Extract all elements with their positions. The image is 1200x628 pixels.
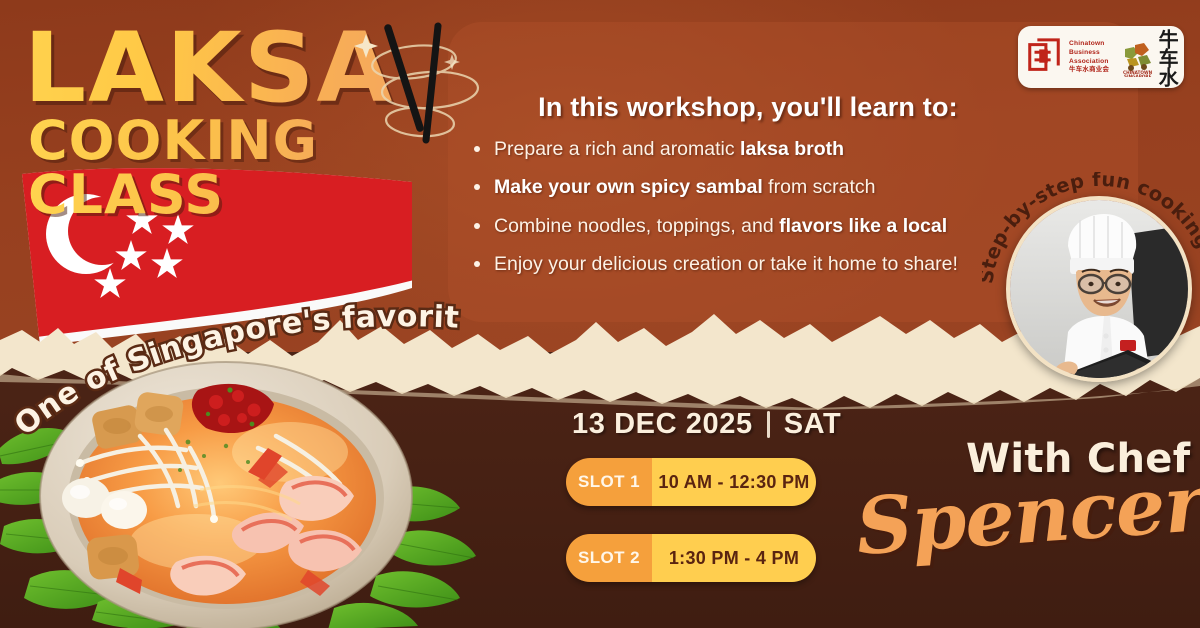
- cba-line-3: Association: [1069, 57, 1109, 66]
- slot-2-pill[interactable]: SLOT 2 1:30 PM - 4 PM: [566, 534, 816, 582]
- bullet-text-post: from scratch: [763, 176, 876, 198]
- chef-name-block: With Chef Spencer: [862, 432, 1192, 592]
- cba-line-1: Chinatown: [1069, 39, 1109, 48]
- bullet-text-pre: Combine noodles, toppings, and: [494, 215, 779, 237]
- list-item: Combine noodles, toppings, and flavors l…: [468, 214, 1028, 239]
- workshop-bullet-list: Prepare a rich and aromatic laksa broth …: [468, 137, 1028, 277]
- logo-divider: [1115, 40, 1116, 74]
- list-item: Prepare a rich and aromatic laksa broth: [468, 137, 1028, 162]
- chinatown-chinese-text: 牛车水: [1158, 29, 1175, 86]
- arc-left-label: One of Singapore's favorite dishes!: [10, 300, 460, 443]
- svg-text:SINGAPORE: SINGAPORE: [1124, 74, 1152, 77]
- cba-chinese-text: 牛车水商业会: [1069, 66, 1109, 75]
- event-date: 13 DEC 2025: [572, 408, 753, 441]
- cba-line-2: Business: [1069, 48, 1109, 57]
- slot-2-time: 1:30 PM - 4 PM: [652, 534, 816, 582]
- cba-seal-icon: [1025, 37, 1063, 77]
- slot-1-pill[interactable]: SLOT 1 10 AM - 12:30 PM: [566, 458, 816, 506]
- event-day: SAT: [784, 408, 842, 441]
- workshop-section: In this workshop, you'll learn to: Prepa…: [468, 92, 1028, 290]
- event-date-row: 13 DEC 2025 SAT: [572, 408, 841, 441]
- slot-1-time: 10 AM - 12:30 PM: [652, 458, 816, 506]
- chef-name-spencer: Spencer: [853, 458, 1200, 573]
- chinatown-logo: CHINATOWN SINGAPORE 牛车水: [1122, 29, 1175, 86]
- bullet-text-bold: laksa broth: [740, 138, 844, 160]
- laksa-cooking-class-banner: LAKSA COOKING CLASS In this workshop, yo…: [0, 0, 1200, 628]
- slot-1-label: SLOT 1: [566, 458, 652, 506]
- logo-container: Chinatown Business Association 牛车水商业会 CH…: [1018, 26, 1184, 88]
- list-item: Make your own spicy sambal from scratch: [468, 175, 1028, 200]
- cba-text-block: Chinatown Business Association 牛车水商业会: [1069, 39, 1109, 75]
- slot-2-label: SLOT 2: [566, 534, 652, 582]
- bullet-text-pre: Prepare a rich and aromatic: [494, 138, 740, 160]
- chef-photo: [1006, 196, 1192, 382]
- bullet-text-bold: Make your own spicy sambal: [494, 176, 763, 198]
- bullet-text-bold: flavors like a local: [779, 215, 947, 237]
- list-item: Enjoy your delicious creation or take it…: [468, 252, 1028, 277]
- chinatown-ox-cart-icon: CHINATOWN SINGAPORE: [1122, 37, 1156, 77]
- date-separator: [767, 411, 770, 438]
- workshop-heading: In this workshop, you'll learn to:: [468, 92, 1028, 123]
- arc-text-singapore-dish: One of Singapore's favorite dishes!: [10, 300, 470, 450]
- bullet-text-pre: Enjoy your delicious creation or take it…: [494, 253, 958, 275]
